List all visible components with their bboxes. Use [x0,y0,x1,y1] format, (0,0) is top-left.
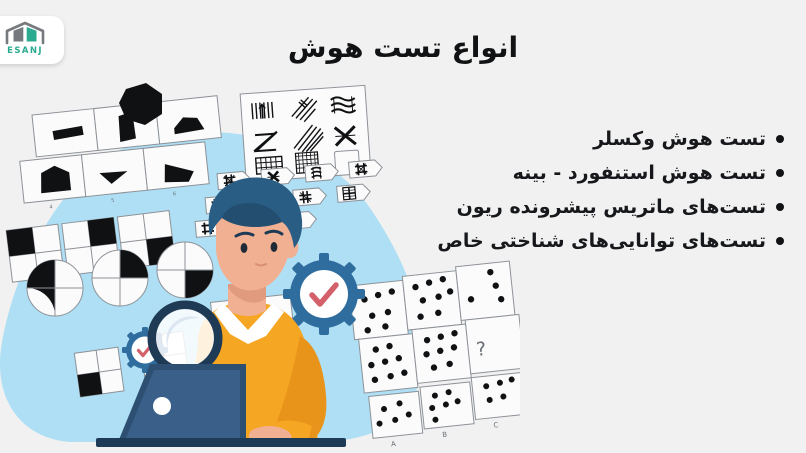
list-item-label: تست هوش استنفورد - بینه [513,156,766,190]
bullet-dot-icon [776,135,784,143]
svg-text:C: C [493,421,499,429]
bullet-dot-icon [776,203,784,211]
slide-canvas: ESANJ انواع تست هوش تست هوش وکسلر تست هو… [0,0,806,453]
svg-text:4: 4 [49,204,53,210]
page-title: انواع تست هوش [0,28,806,68]
svg-text:A: A [391,440,397,448]
desk [96,438,346,447]
svg-text:5: 5 [111,198,115,204]
iq-test-illustration: 123 456 [0,78,520,453]
svg-text:B: B [442,431,448,439]
bullet-dot-icon [776,169,784,177]
list-item-label: تست هوش وکسلر [593,122,766,156]
svg-text:6: 6 [173,191,177,197]
dot-matrix-puzzle: ? [348,256,520,451]
bullet-dot-icon [776,237,784,245]
